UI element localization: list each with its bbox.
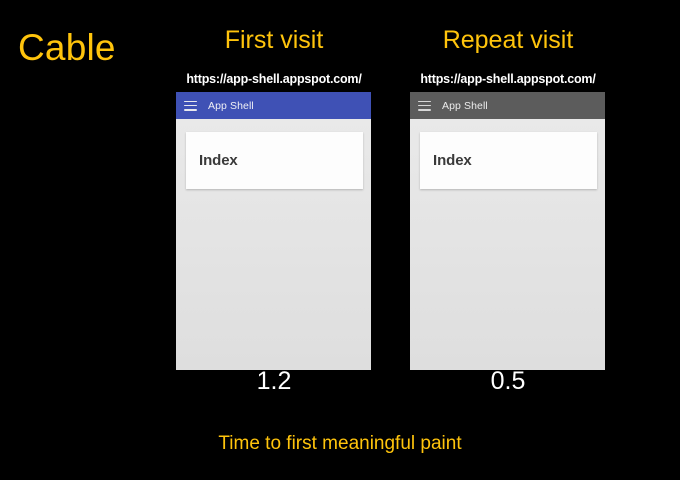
index-card-title-repeat-visit: Index (433, 153, 472, 168)
content-area-repeat-visit: Index (410, 119, 605, 370)
app-bar-title-repeat-visit: App Shell (442, 100, 488, 112)
hamburger-line-2 (418, 105, 431, 107)
slide-canvas: Cable First visit https://app-shell.apps… (0, 0, 680, 480)
panel-url-repeat-visit: https://app-shell.appspot.com/ (410, 73, 606, 86)
hamburger-icon[interactable] (418, 101, 431, 111)
connection-type-label: Cable (18, 29, 116, 66)
index-card-title-first-visit: Index (199, 153, 238, 168)
panel-title-first-visit: First visit (176, 28, 372, 53)
panel-title-repeat-visit: Repeat visit (410, 28, 606, 53)
content-area-first-visit: Index (176, 119, 371, 370)
hamburger-line-3 (184, 109, 197, 111)
panel-url-first-visit: https://app-shell.appspot.com/ (176, 73, 372, 86)
panel-repeat-visit: Repeat visit https://app-shell.appspot.c… (410, 0, 606, 480)
metric-value-first-visit: 1.2 (176, 369, 372, 394)
browser-viewport-first-visit: App Shell Index (176, 92, 371, 370)
index-card-repeat-visit[interactable]: Index (420, 132, 597, 189)
app-bar-first-visit: App Shell (176, 92, 371, 119)
hamburger-line-2 (184, 105, 197, 107)
index-card-first-visit[interactable]: Index (186, 132, 363, 189)
hamburger-icon[interactable] (184, 101, 197, 111)
hamburger-line-3 (418, 109, 431, 111)
hamburger-line-1 (418, 101, 431, 103)
hamburger-line-1 (184, 101, 197, 103)
panel-first-visit: First visit https://app-shell.appspot.co… (176, 0, 372, 480)
app-bar-title-first-visit: App Shell (208, 100, 254, 112)
slide-caption: Time to first meaningful paint (0, 434, 680, 453)
app-bar-repeat-visit: App Shell (410, 92, 605, 119)
metric-value-repeat-visit: 0.5 (410, 369, 606, 394)
browser-viewport-repeat-visit: App Shell Index (410, 92, 605, 370)
